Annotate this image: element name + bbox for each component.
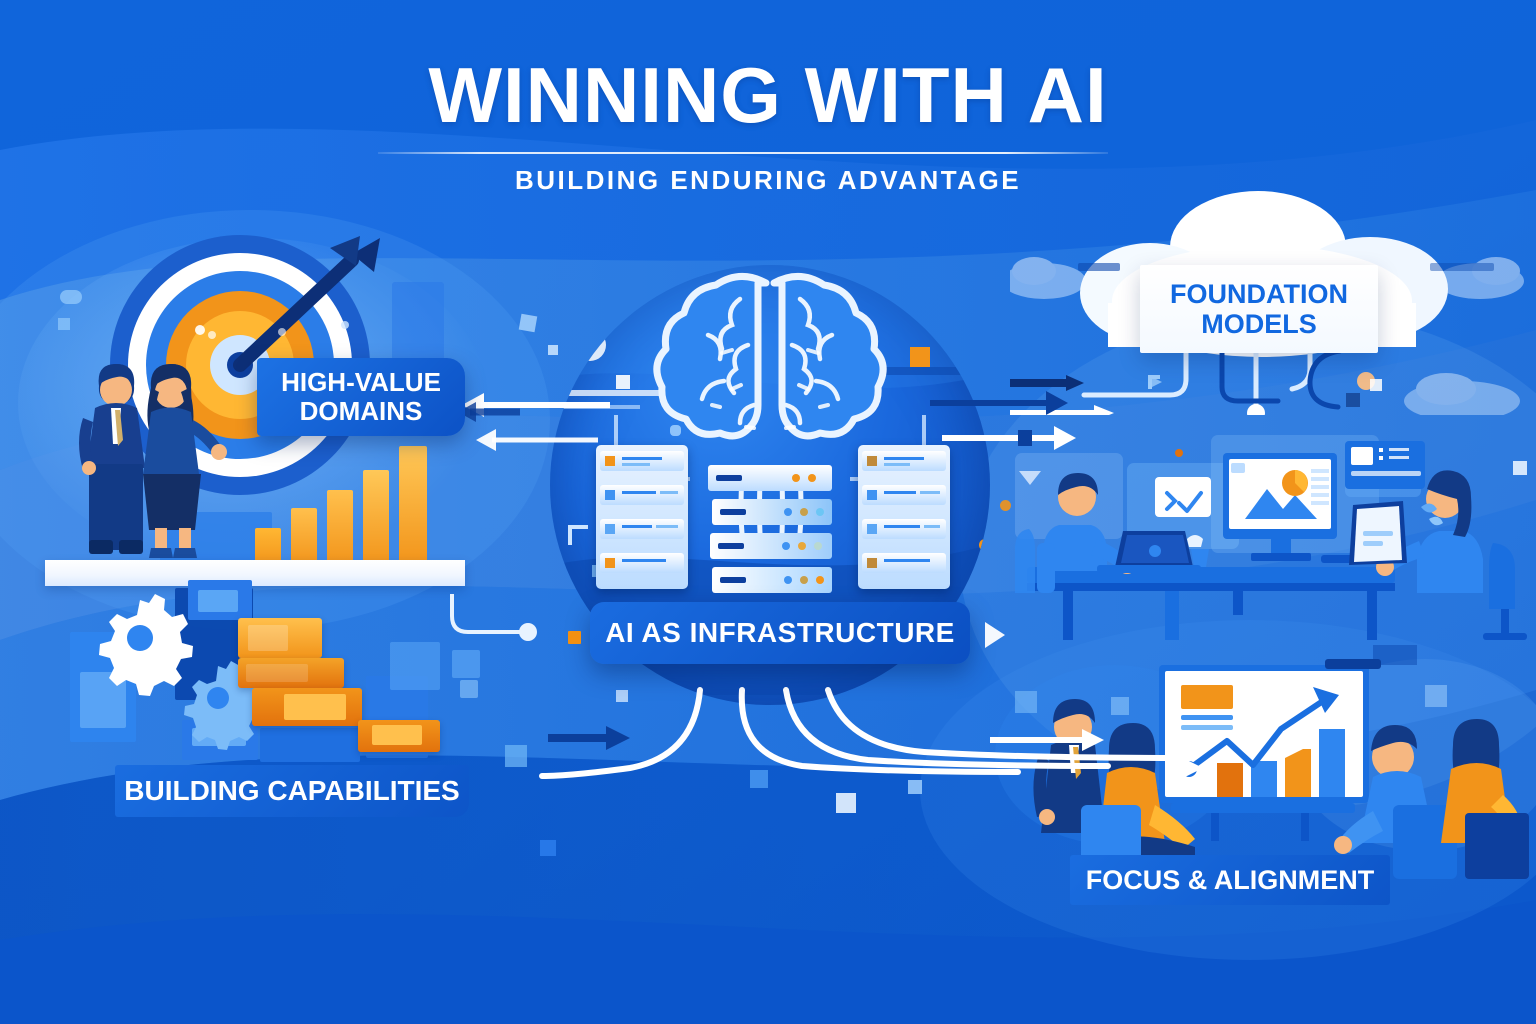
play-triangle-icon[interactable] [985, 622, 1005, 648]
rack-unit [712, 567, 832, 593]
deco-square [540, 840, 556, 856]
label-high-value-domains[interactable]: HIGH-VALUE DOMAINS [257, 358, 465, 436]
person-businesswoman [143, 364, 227, 558]
label-building-capabilities[interactable]: BUILDING CAPABILITIES [115, 765, 469, 817]
infographic-canvas: WINNING WITH AI BUILDING ENDURING ADVANT… [0, 0, 1536, 1024]
rack-unit [862, 553, 946, 573]
label-focus-alignment[interactable]: FOCUS & ALIGNMENT [1070, 855, 1390, 905]
rack-unit [600, 485, 684, 505]
rack-unit [600, 519, 684, 539]
cloud-icon [1404, 373, 1520, 415]
deco-square [836, 793, 856, 813]
rack-unit [710, 533, 832, 559]
cloud-icon [1010, 257, 1086, 299]
label-foundation-models[interactable]: FOUNDATION MODELS [1140, 265, 1378, 353]
rack-unit [862, 519, 946, 539]
crate-block [238, 618, 322, 658]
alignment-meeting-scene [995, 645, 1536, 880]
rack-unit [712, 499, 832, 525]
server-rack-icon [708, 465, 832, 593]
people-group-left [55, 340, 275, 570]
person-businessman [79, 364, 145, 554]
page-subtitle: BUILDING ENDURING ADVANTAGE [0, 165, 1536, 196]
rack-unit [862, 451, 946, 471]
server-rack-icon [858, 445, 950, 589]
crate-block [358, 720, 440, 752]
rack-unit [708, 465, 832, 491]
crate-block [238, 658, 344, 688]
chart-bar [291, 508, 317, 566]
desk [1027, 567, 1395, 640]
square-marker-icon [568, 631, 581, 644]
chart-bar [327, 490, 353, 566]
chart-bar [399, 446, 427, 566]
deco-square [750, 770, 768, 788]
rack-unit [600, 553, 684, 573]
team-workstation-scene [1015, 435, 1536, 640]
page-title: WINNING WITH AI [0, 56, 1536, 134]
chart-bar [363, 470, 389, 566]
server-rack-icon [596, 445, 688, 589]
rack-unit [600, 451, 684, 471]
label-ai-as-infrastructure[interactable]: AI AS INFRASTRUCTURE [590, 602, 970, 664]
rack-unit [862, 485, 946, 505]
header: WINNING WITH AI BUILDING ENDURING ADVANT… [0, 0, 1536, 210]
title-divider [378, 152, 1108, 154]
tablet-icon [1349, 501, 1407, 565]
bar-chart-left [255, 426, 445, 566]
crate-block [252, 688, 362, 726]
capabilities-gears-scene [70, 580, 530, 780]
deco-square [908, 780, 922, 794]
